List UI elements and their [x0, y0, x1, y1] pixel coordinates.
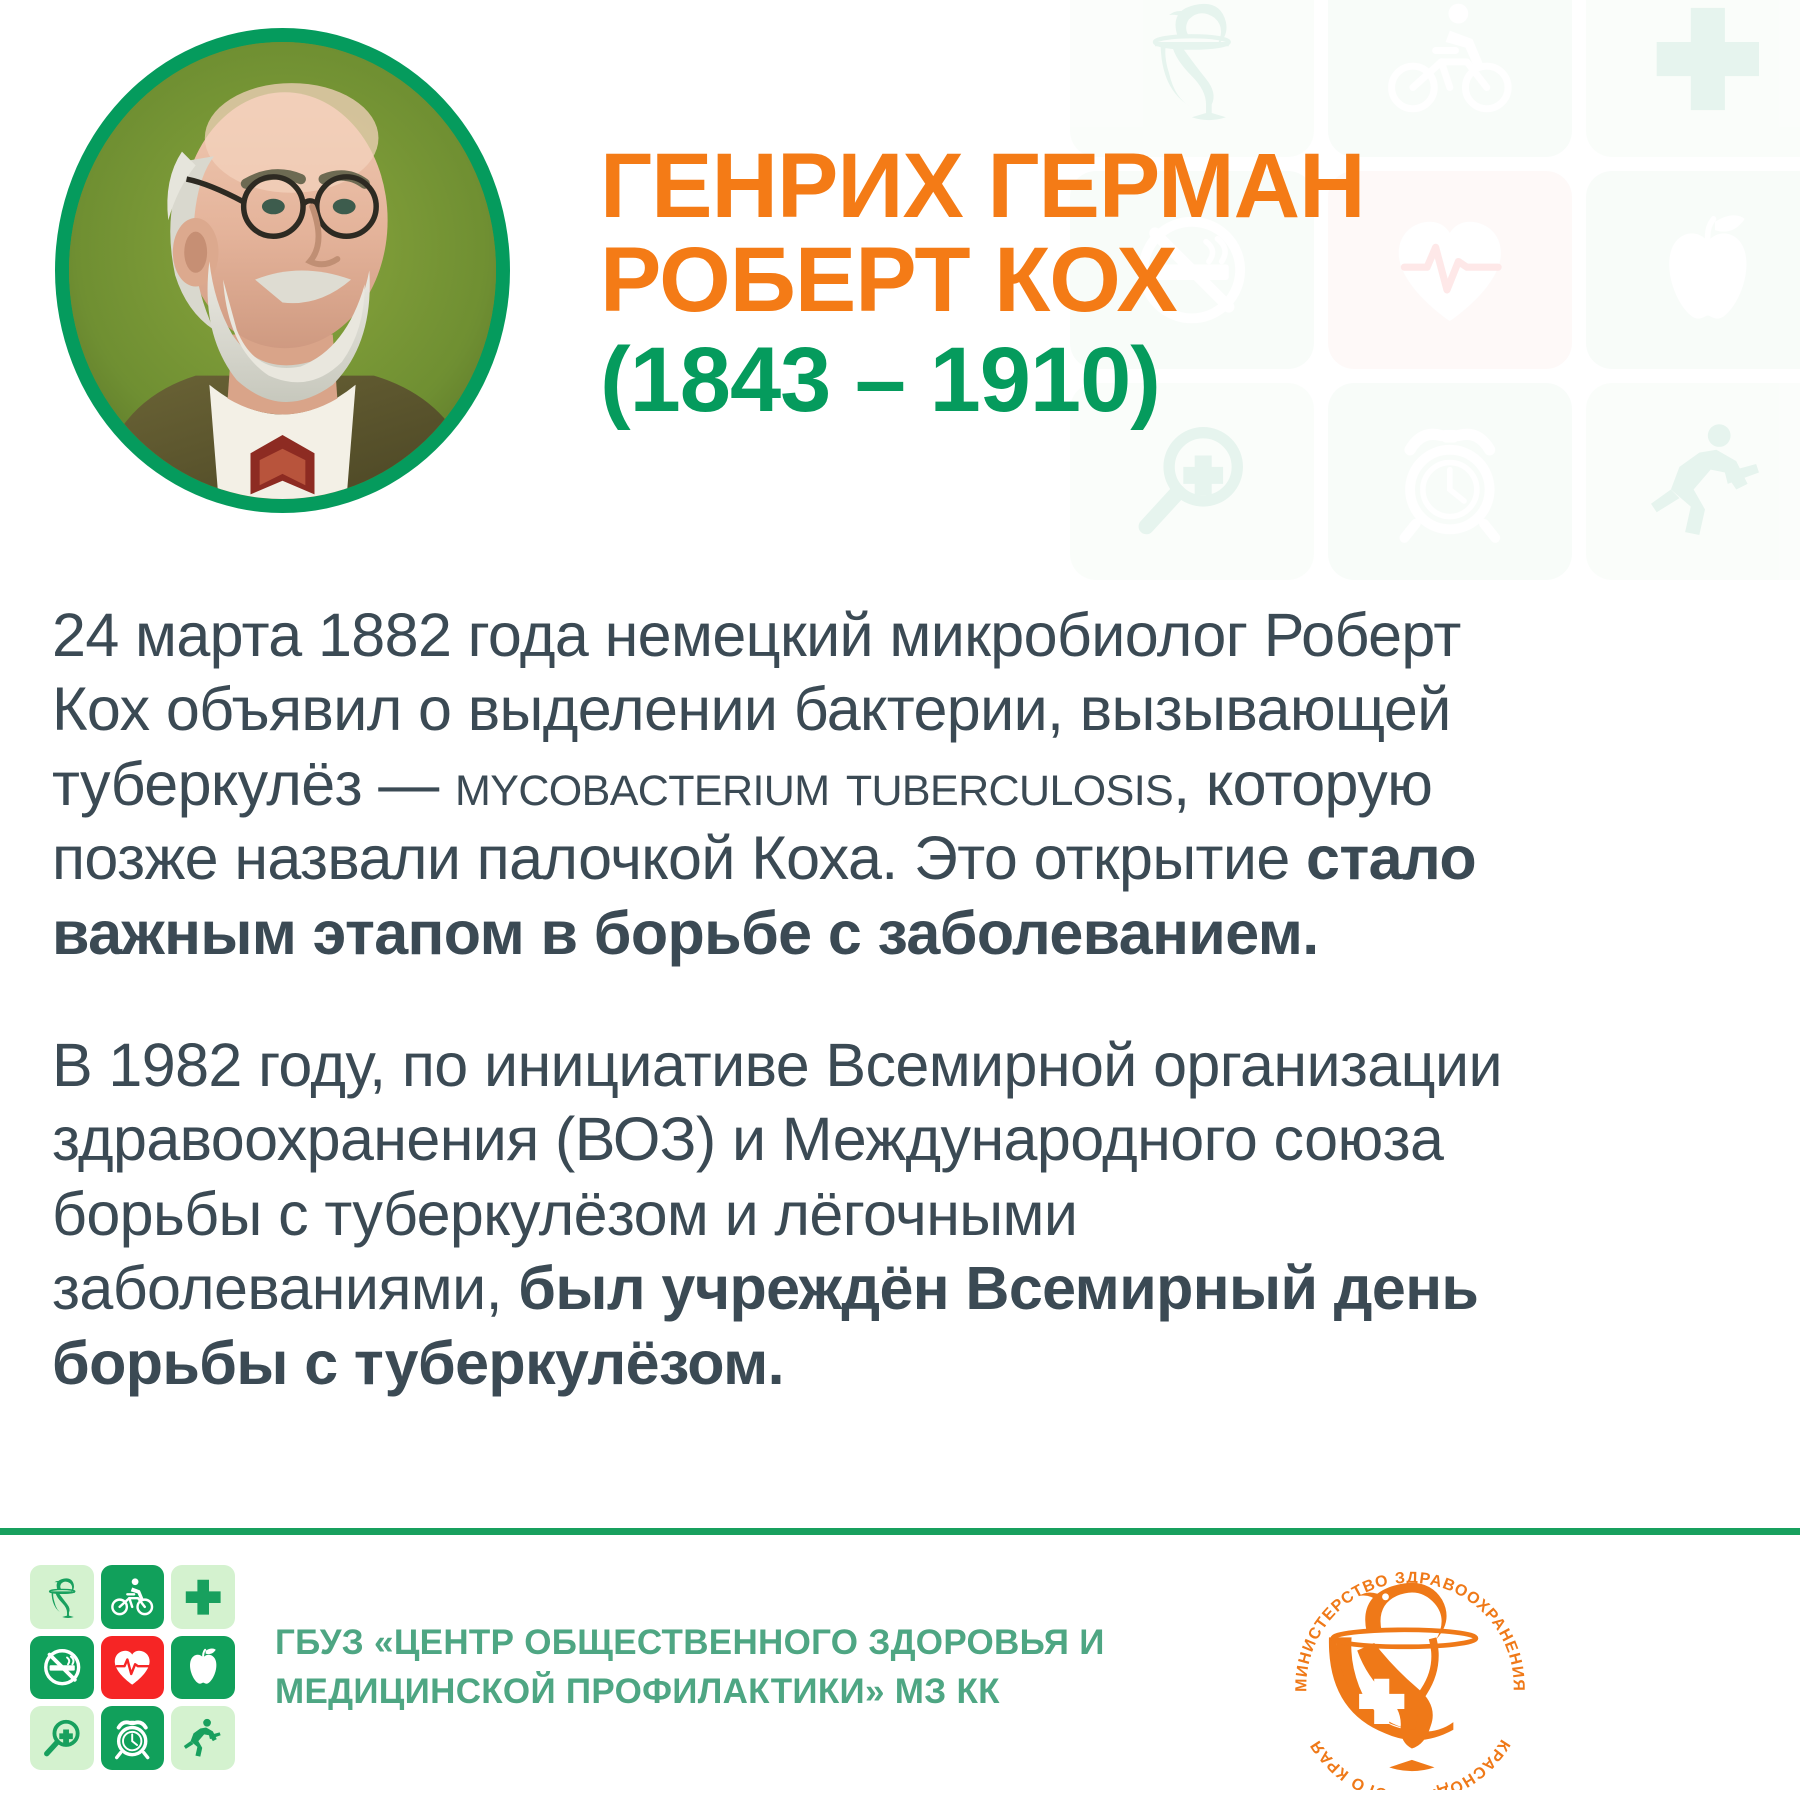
organization-name: ГБУЗ «ЦЕНТР ОБЩЕСТВЕННОГО ЗДОРОВЬЯ И МЕД… — [275, 1619, 1265, 1716]
paragraph-discovery: 24 марта 1882 года немецкий микробиолог … — [52, 598, 1532, 970]
ministry-emblem-icon: МИНИСТЕРСТВО ЗДРАВООХРАНЕНИЯ КРАСНОДАРСК… — [1265, 1545, 1555, 1790]
icon-cell-bowl-of-hygieia — [30, 1565, 94, 1629]
icon-cell-medical-cross — [171, 1565, 235, 1629]
icon-cell-bowl-of-hygieia — [1070, 0, 1314, 157]
magnifier-plus-icon — [38, 1714, 86, 1762]
title-block: ГЕНРИХ ГЕРМАН РОБЕРТ КОХ (1843 – 1910) — [600, 140, 1780, 429]
apple-icon — [179, 1643, 227, 1691]
page-title-line-2: РОБЕРТ КОХ — [600, 234, 1780, 328]
page-title-years: (1843 – 1910) — [600, 332, 1780, 430]
cyclist-icon — [1362, 0, 1538, 130]
icon-cell-heart-ecg — [101, 1636, 165, 1700]
heart-ecg-icon — [108, 1643, 156, 1691]
footer: ГБУЗ «ЦЕНТР ОБЩЕСТВЕННОГО ЗДОРОВЬЯ И МЕД… — [0, 1535, 1800, 1800]
alarm-clock-icon — [108, 1714, 156, 1762]
bowl-of-hygieia-icon — [38, 1573, 86, 1621]
portrait-ring — [55, 28, 510, 513]
bowl-of-hygieia-emblem — [1329, 1583, 1476, 1771]
ministry-logo: МИНИСТЕРСТВО ЗДРАВООХРАНЕНИЯ КРАСНОДАРСК… — [1265, 1545, 1555, 1790]
bowl-of-hygieia-icon — [1104, 0, 1280, 130]
runner-icon — [1620, 410, 1796, 552]
health-icons-logo-grid — [30, 1565, 235, 1770]
icon-cell-runner — [171, 1706, 235, 1770]
poster-root: ГЕНРИХ ГЕРМАН РОБЕРТ КОХ (1843 – 1910) 2… — [0, 0, 1800, 1800]
cyclist-icon — [108, 1573, 156, 1621]
runner-icon — [179, 1714, 227, 1762]
magnifier-plus-icon — [1104, 410, 1280, 552]
icon-cell-cyclist — [1328, 0, 1572, 157]
icon-cell-apple — [171, 1636, 235, 1700]
alarm-clock-icon — [1362, 410, 1538, 552]
footer-divider — [0, 1528, 1800, 1535]
no-smoking-icon — [38, 1643, 86, 1691]
medical-cross-icon — [179, 1573, 227, 1621]
species-name: Mycobacterium tuberculosis — [455, 750, 1173, 818]
portrait-container — [55, 28, 510, 513]
icon-cell-medical-cross — [1586, 0, 1800, 157]
body-text-block: 24 марта 1882 года немецкий микробиолог … — [52, 598, 1532, 1400]
medical-cross-icon — [1620, 0, 1796, 130]
icon-cell-alarm-clock — [101, 1706, 165, 1770]
paragraph-world-tb-day: В 1982 году, по инициативе Всемирной орг… — [52, 1028, 1532, 1400]
portrait-image — [69, 42, 496, 499]
icon-cell-no-smoking — [30, 1636, 94, 1700]
page-title-line-1: ГЕНРИХ ГЕРМАН — [600, 140, 1780, 234]
icon-cell-magnifier-plus — [30, 1706, 94, 1770]
icon-cell-cyclist — [101, 1565, 165, 1629]
